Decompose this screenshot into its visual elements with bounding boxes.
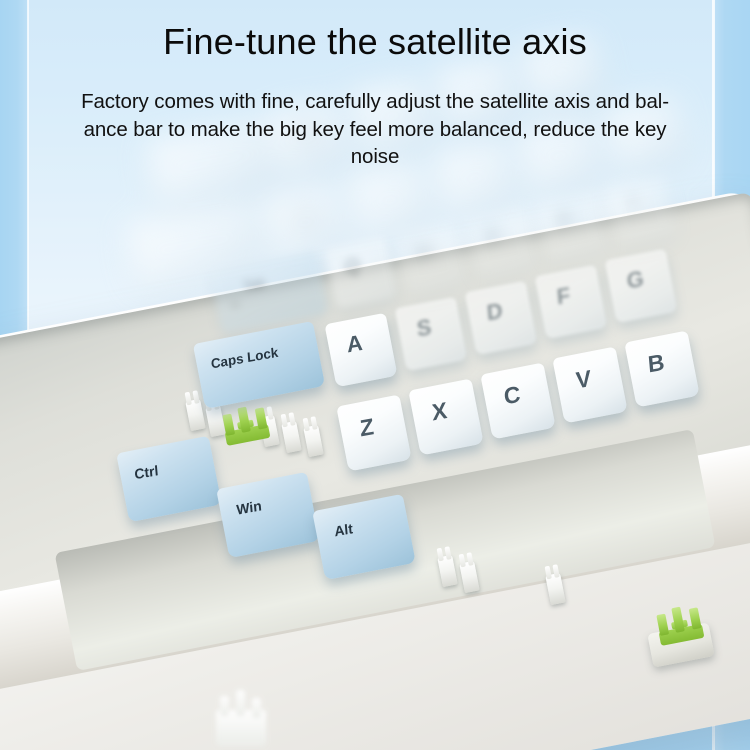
- key-label: Alt: [334, 520, 354, 539]
- keyboard: ⭰ Tab Q W E R T Caps Lock A S D: [0, 150, 750, 750]
- key-label: F: [556, 282, 572, 310]
- description-line-2: ance bar to make the big key feel more b…: [18, 116, 732, 144]
- key-label: W: [414, 240, 435, 266]
- key-f[interactable]: F: [534, 265, 607, 340]
- key-label: A: [346, 330, 364, 359]
- key-label: T: [626, 192, 640, 217]
- loose-stabilizer-part: [208, 690, 278, 748]
- key-r[interactable]: R: [535, 191, 608, 264]
- key-w[interactable]: W: [395, 223, 468, 296]
- key-t[interactable]: T: [605, 175, 678, 248]
- key-label: D: [486, 298, 504, 327]
- key-label: Tab: [243, 275, 266, 294]
- key-label: R: [556, 208, 572, 234]
- key-label: Q: [344, 254, 361, 280]
- tab-arrow-icon: ⭰: [230, 296, 242, 320]
- key-b[interactable]: B: [624, 331, 699, 408]
- key-d[interactable]: D: [464, 281, 537, 356]
- key-x[interactable]: X: [408, 379, 483, 456]
- key-label: Win: [236, 497, 263, 517]
- key-c[interactable]: C: [480, 363, 555, 440]
- key-label: Z: [359, 413, 375, 442]
- key-z[interactable]: Z: [336, 395, 411, 472]
- key-e[interactable]: E: [465, 207, 538, 280]
- page-title: Fine-tune the satellite axis: [0, 22, 750, 62]
- key-label: E: [486, 224, 501, 249]
- key-label: B: [647, 349, 666, 379]
- key-label: G: [626, 265, 645, 294]
- key-label: C: [503, 381, 522, 411]
- key-a[interactable]: A: [324, 313, 397, 388]
- product-feature-image: Q Q: [0, 0, 750, 750]
- page-description: Factory comes with fine, carefully adjus…: [18, 88, 732, 171]
- key-label: S: [416, 314, 433, 343]
- description-line-3: noise: [18, 143, 732, 171]
- key-label: X: [431, 397, 448, 427]
- description-line-1: Factory comes with fine, carefully adjus…: [18, 88, 732, 116]
- key-label: Caps Lock: [210, 345, 279, 372]
- key-q[interactable]: Q: [325, 237, 398, 310]
- key-label: Ctrl: [134, 462, 159, 482]
- key-v[interactable]: V: [552, 347, 627, 424]
- key-label: V: [575, 365, 592, 395]
- key-g[interactable]: G: [604, 249, 677, 324]
- key-s[interactable]: S: [394, 297, 467, 372]
